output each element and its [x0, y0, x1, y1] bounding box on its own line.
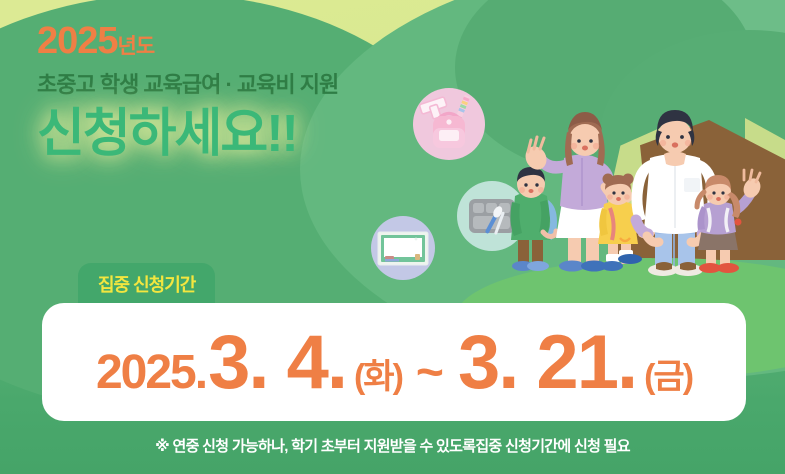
whiteboard-icon — [371, 216, 435, 280]
application-period: 2025. 3. 4. (화) ~ 3. 21. (금) — [96, 319, 692, 406]
end-weekday: (금) — [644, 349, 692, 398]
year-line: 2025년도 — [37, 22, 457, 60]
backpack-icon — [413, 88, 485, 160]
year-suffix: 년도 — [118, 35, 155, 58]
range-symbol: ~ — [416, 345, 442, 400]
start-date: 3. 4. — [208, 319, 346, 406]
child-boy-green — [507, 167, 557, 271]
start-weekday: (화) — [354, 349, 402, 398]
family-illustration — [498, 96, 785, 296]
year-number: 2025 — [37, 20, 118, 62]
subtitle-line: 초중고 학생 교육급여 · 교육비 지원 — [37, 73, 457, 97]
date-year: 2025. — [96, 345, 206, 400]
education-subsidy-banner: 2025년도 초중고 학생 교육급여 · 교육비 지원 신청하세요!! — [0, 0, 785, 474]
end-date: 3. 21. — [458, 319, 636, 406]
child-girl-yellow — [598, 174, 652, 272]
date-card: 2025. 3. 4. (화) ~ 3. 21. (금) — [42, 303, 746, 421]
footer-note: ※ 연중 신청 가능하나, 학기 초부터 지원받을 수 있도록집중 신청기간에 … — [0, 435, 785, 456]
status-badge: 집중 신청기간 — [78, 263, 215, 307]
child-girl-purple — [697, 170, 764, 273]
main-headline: 신청하세요!! — [37, 106, 457, 162]
headline-block: 2025년도 초중고 학생 교육급여 · 교육비 지원 신청하세요!! — [37, 22, 457, 162]
